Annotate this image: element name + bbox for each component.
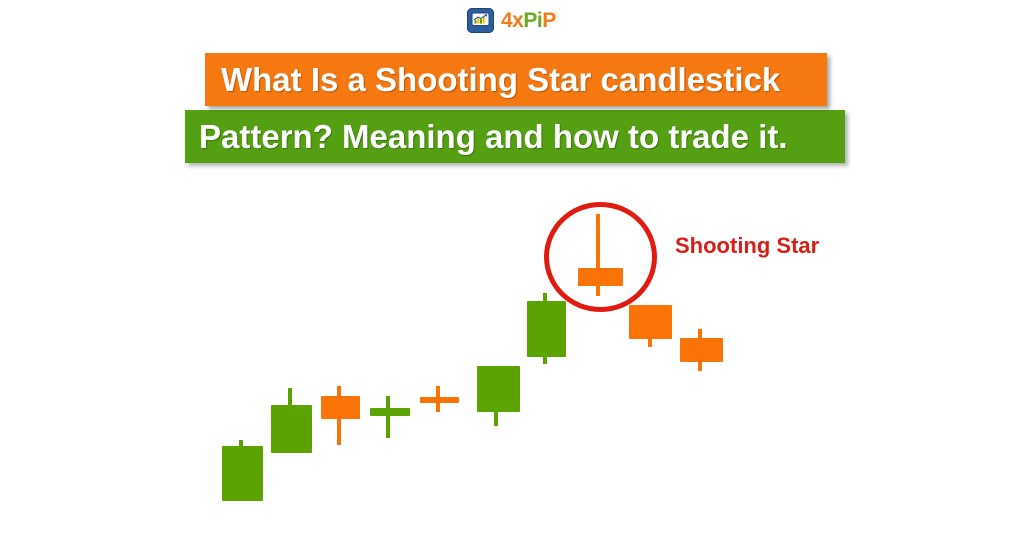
brand-name-part3: P	[542, 9, 556, 32]
brand-name-part1: 4x	[501, 9, 523, 32]
candle-wick	[386, 396, 390, 438]
title-banner-line2: Pattern? Meaning and how to trade it.	[185, 110, 845, 163]
candle-body	[680, 338, 723, 362]
candlestick-chart: Shooting Star	[0, 180, 1024, 538]
candle-body	[527, 301, 566, 357]
candle-body	[420, 397, 459, 403]
candle-body	[629, 305, 672, 339]
brand-name-part2: Pi	[523, 9, 542, 32]
candle-body	[271, 405, 312, 453]
brand-wordmark: 4xPiP	[501, 10, 556, 31]
monitor-chart-icon	[467, 8, 494, 33]
candle-body	[370, 408, 410, 416]
candle-body	[477, 366, 520, 412]
brand-logo: 4xPiP	[467, 8, 556, 33]
candle-body	[222, 446, 263, 501]
title-banner-line1: What Is a Shooting Star candlestick	[205, 53, 827, 106]
shooting-star-highlight-ellipse	[544, 202, 657, 312]
infographic-canvas: 4xPiP What Is a Shooting Star candlestic…	[0, 0, 1024, 538]
shooting-star-annotation-label: Shooting Star	[675, 233, 819, 259]
candle-body	[321, 396, 360, 419]
